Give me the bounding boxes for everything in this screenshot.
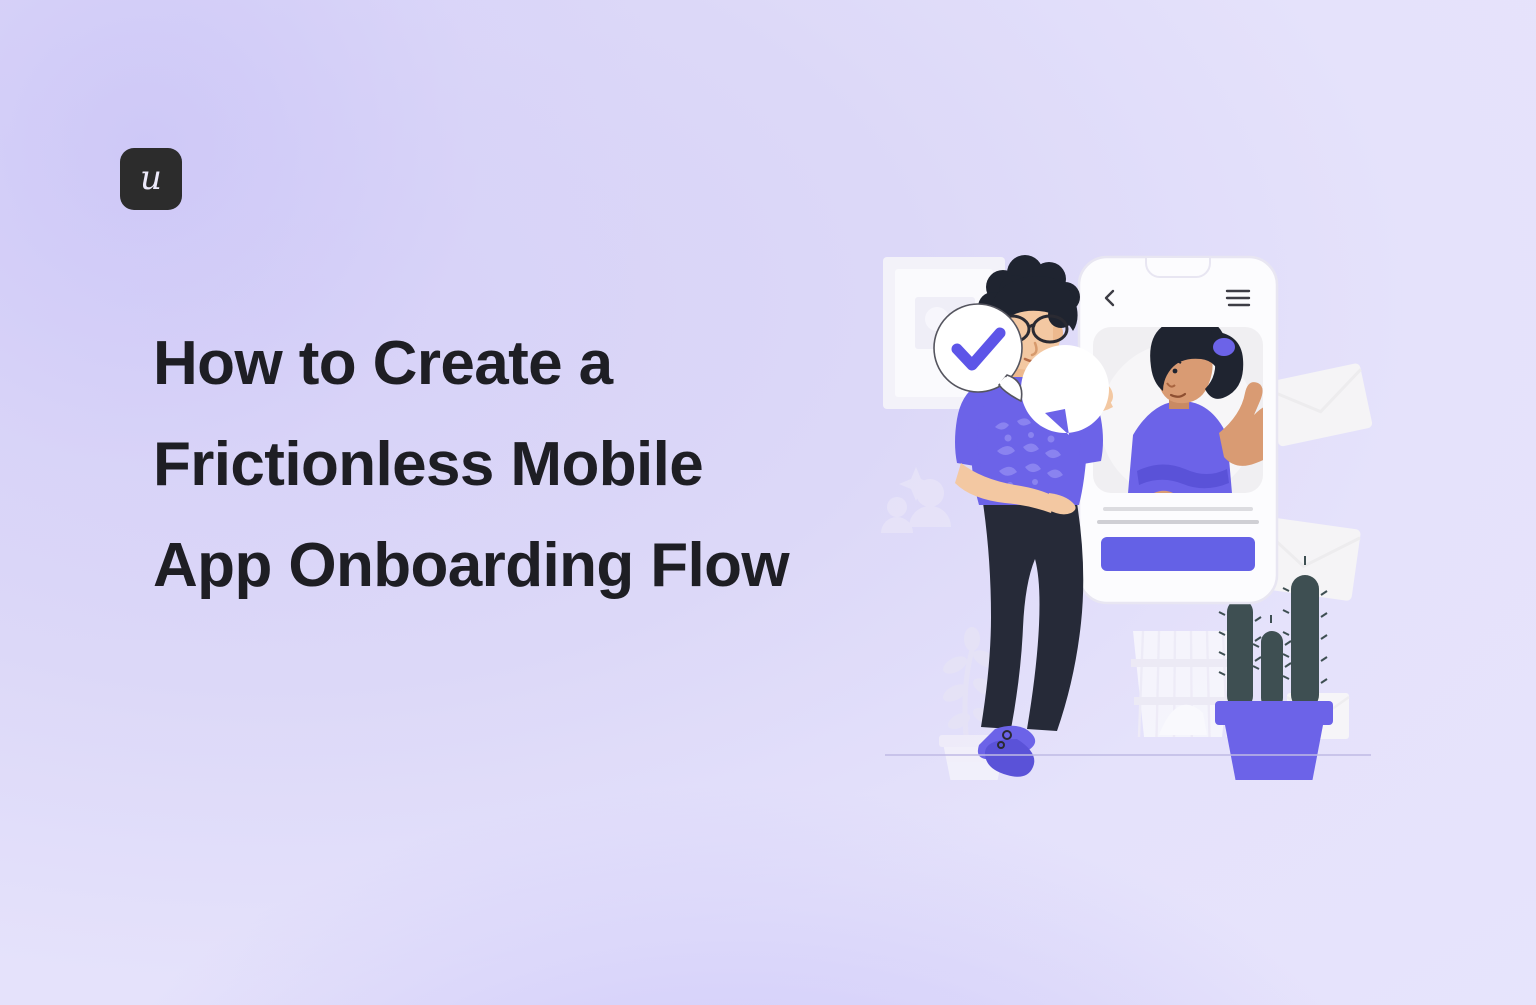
phone-notch	[1146, 257, 1210, 277]
cactus-pot-body	[1225, 725, 1323, 780]
mobile-app-onboarding-illustration	[875, 235, 1395, 780]
cover-canvas: u How to Create a Frictionless Mobile Ap…	[0, 0, 1536, 1005]
logo-glyph: u	[140, 161, 162, 195]
placeholder-line	[1103, 507, 1253, 511]
smartphone-device	[1079, 257, 1282, 603]
hair-tie	[1213, 338, 1235, 356]
person-trousers	[981, 503, 1083, 731]
userpilot-logo[interactable]: u	[120, 148, 182, 210]
page-title: How to Create a Frictionless Mobile App …	[153, 313, 793, 616]
cactus-pot-rim	[1215, 701, 1333, 725]
envelope-shape-large	[1265, 363, 1373, 448]
placeholder-line	[1097, 520, 1259, 524]
cta-button	[1101, 537, 1255, 571]
user-avatar-ghost-shape	[881, 467, 951, 533]
